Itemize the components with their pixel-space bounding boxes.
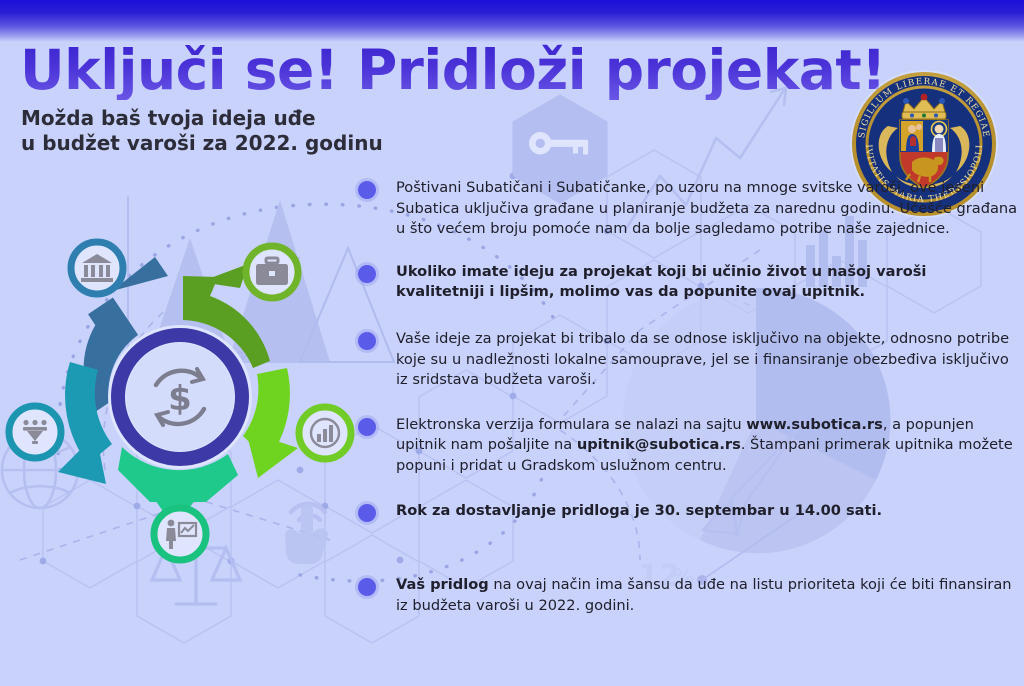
bullet-list: Poštivani Subatičani i Subatičanke, po u… [358, 178, 1018, 634]
report-icon-badge[interactable] [299, 407, 351, 459]
page-subtitle: Možda baš tvoja ideja uđe u budžet varoš… [21, 106, 383, 156]
network-people-icon-badge[interactable] [9, 406, 61, 458]
bullet-text-submission: Elektronska verzija formulara se nalazi … [396, 415, 1018, 477]
bullet-dot-icon [358, 265, 376, 283]
bullet-text-call-to-action: Ukoliko imate ideju za projekat koji bi … [396, 262, 1018, 303]
bullet-text-scope: Vaše ideje za projekat bi tribalo da se … [396, 329, 1018, 391]
list-item: Rok za dostavljanje pridloga je 30. sept… [358, 501, 1018, 522]
bullet-text-intro: Poštivani Subatičani i Subatičanke, po u… [396, 178, 1018, 240]
outcome-strong: Vaš pridlog [396, 576, 489, 593]
list-item: Vaš pridlog na ovaj način ima šansu da u… [358, 575, 1018, 616]
bullet-text-outcome: Vaš pridlog na ovaj način ima šansu da u… [396, 575, 1018, 616]
presenter-icon-badge[interactable] [154, 508, 206, 560]
infographic-segment-report [243, 368, 298, 478]
list-item: Ukoliko imate ideju za projekat koji bi … [358, 262, 1018, 303]
top-gradient-band [0, 0, 1024, 42]
list-item: Elektronska verzija formulara se nalazi … [358, 415, 1018, 477]
poster-canvas: 20X1 20X2 [0, 0, 1024, 686]
bullet-dot-icon [358, 504, 376, 522]
list-item: Vaše ideje za projekat bi tribalo da se … [358, 329, 1018, 391]
bank-icon-badge[interactable] [71, 242, 123, 294]
dollar-sign-icon: $ [168, 379, 192, 419]
submission-prefix: Elektronska verzija formulara se nalazi … [396, 416, 746, 433]
bullet-dot-icon [358, 332, 376, 350]
page-title: Uključi se! Pridloži projekat! [20, 40, 886, 100]
website-link[interactable]: www.subotica.rs [746, 416, 883, 433]
bullet-dot-icon [358, 418, 376, 436]
budget-cycle-infographic: $ [0, 222, 360, 572]
email-link[interactable]: upitnik@subotica.rs [577, 436, 741, 453]
bullet-dot-icon [358, 181, 376, 199]
outcome-suffix: na ovaj način ima šansu da uđe na listu … [396, 576, 1012, 614]
bullet-dot-icon [358, 578, 376, 596]
list-item: Poštivani Subatičani i Subatičanke, po u… [358, 178, 1018, 240]
svg-text:$: $ [168, 379, 192, 419]
bullet-text-deadline: Rok za dostavljanje pridloga je 30. sept… [396, 501, 1018, 522]
briefcase-icon-badge[interactable] [246, 246, 298, 298]
